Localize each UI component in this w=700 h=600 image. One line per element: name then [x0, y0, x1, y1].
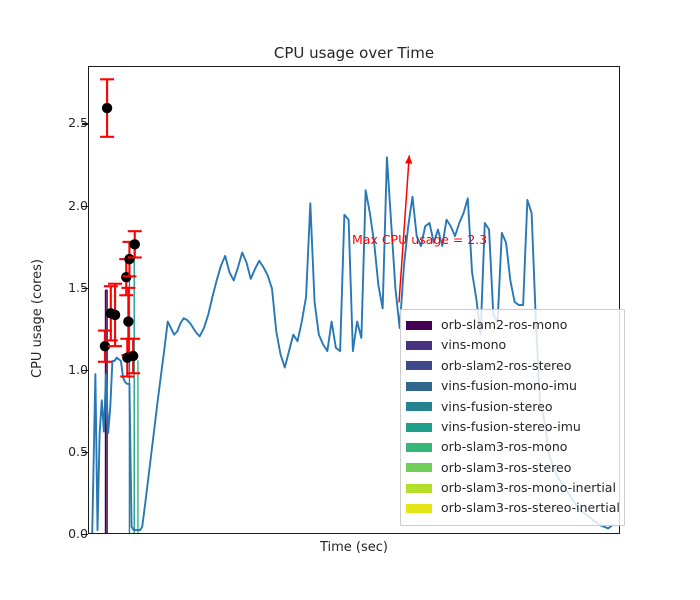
- legend-item[interactable]: orb-slam2-ros-mono: [406, 315, 618, 335]
- legend-item-label: orb-slam3-ros-stereo-inertial: [441, 502, 620, 515]
- legend-item[interactable]: orb-slam3-ros-mono-inertial: [406, 478, 618, 498]
- data-point-marker: [130, 239, 140, 249]
- max-cpu-annotation: Max CPU usage = 2.3: [352, 232, 487, 247]
- legend-color-swatch: [406, 443, 432, 452]
- legend-item-label: vins-fusion-mono-imu: [441, 380, 577, 393]
- data-point-marker: [128, 351, 138, 361]
- legend-color-swatch: [406, 361, 432, 370]
- annotation-arrow-head: [405, 155, 412, 163]
- data-point-marker: [110, 310, 120, 320]
- legend-item-label: orb-slam2-ros-mono: [441, 319, 567, 332]
- legend-color-swatch: [406, 321, 432, 330]
- y-axis-ticks: 0.00.51.01.52.02.5: [0, 0, 88, 600]
- data-point-marker: [123, 316, 133, 326]
- legend-color-swatch: [406, 402, 432, 411]
- legend-color-swatch: [406, 341, 432, 350]
- legend-item[interactable]: orb-slam3-ros-stereo-inertial: [406, 499, 618, 519]
- legend-item-label: orb-slam3-ros-mono-inertial: [441, 482, 616, 495]
- chart-title: CPU usage over Time: [88, 44, 620, 62]
- legend-item-label: orb-slam2-ros-stereo: [441, 360, 571, 373]
- legend-item[interactable]: orb-slam3-ros-mono: [406, 437, 618, 457]
- legend-item-label: orb-slam3-ros-mono: [441, 441, 567, 454]
- legend-item-label: vins-fusion-stereo: [441, 401, 553, 414]
- legend-item-label: orb-slam3-ros-stereo: [441, 462, 571, 475]
- legend-item-label: vins-fusion-stereo-imu: [441, 421, 581, 434]
- legend-color-swatch: [406, 504, 432, 513]
- figure-canvas: CPU usage over Time CPU usage (cores) Ti…: [0, 0, 700, 600]
- legend-color-swatch: [406, 463, 432, 472]
- legend-item[interactable]: orb-slam3-ros-stereo: [406, 458, 618, 478]
- legend-item[interactable]: vins-mono: [406, 335, 618, 355]
- legend-color-swatch: [406, 423, 432, 432]
- chart-legend[interactable]: orb-slam2-ros-monovins-monoorb-slam2-ros…: [400, 309, 625, 526]
- data-point-marker: [124, 254, 134, 264]
- x-axis-label: Time (sec): [88, 540, 620, 555]
- legend-item[interactable]: vins-fusion-stereo-imu: [406, 417, 618, 437]
- legend-item[interactable]: vins-fusion-mono-imu: [406, 376, 618, 396]
- legend-item-label: vins-mono: [441, 339, 506, 352]
- legend-color-swatch: [406, 382, 432, 391]
- legend-item[interactable]: vins-fusion-stereo: [406, 397, 618, 417]
- legend-color-swatch: [406, 484, 432, 493]
- data-point-marker: [102, 103, 112, 113]
- legend-item[interactable]: orb-slam2-ros-stereo: [406, 356, 618, 376]
- y-tick-mark: [82, 534, 88, 535]
